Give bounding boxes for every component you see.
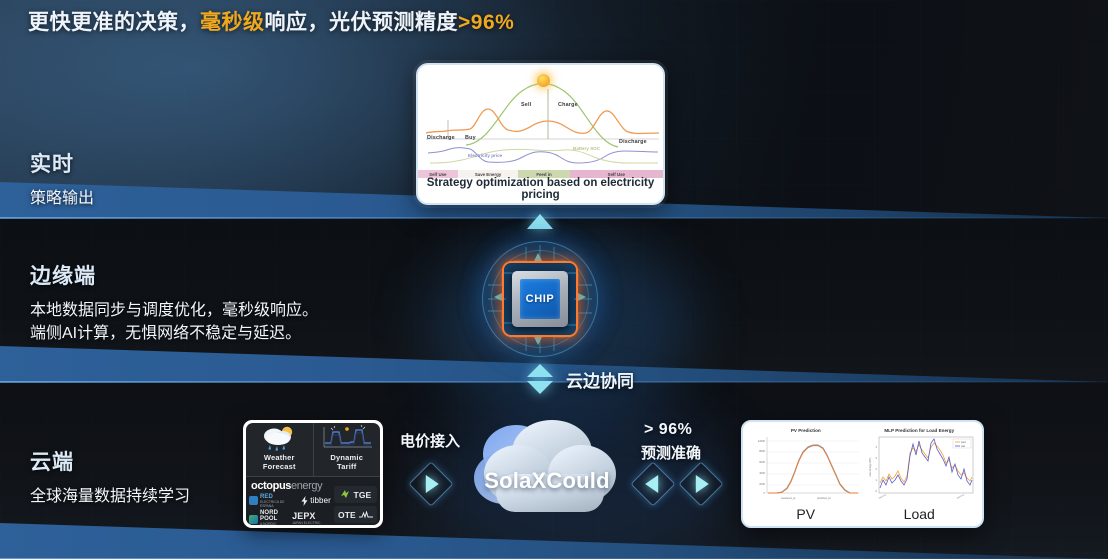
page-headline: 更快更准的决策，毫秒级响应，光伏预测精度>96% [28, 6, 514, 36]
pv-prediction-panel: PV Prediction 020004000 6000800012000 [749, 427, 863, 524]
dynamic-tariff-cell: Dynamic Tariff [313, 423, 381, 476]
logo-nordpool-text: NORD POOL [260, 510, 279, 522]
logo-ote-text: OTE [338, 510, 356, 520]
accuracy-value: > 96% [644, 421, 692, 439]
svg-text:6000: 6000 [759, 460, 765, 464]
load-panel-name: Load [863, 507, 977, 524]
ote-wave-icon [359, 511, 373, 519]
arrow-up-icon [527, 364, 553, 377]
layer-label-edge: 边缘端 本地数据同步与调度优化，毫秒级响应。 端侧AI计算，无惧网络不稳定与延迟… [30, 260, 318, 345]
svg-text:4: 4 [875, 445, 877, 449]
svg-text:measured_pv: measured_pv [781, 497, 796, 500]
svg-text:2: 2 [875, 467, 877, 471]
logo-row-2: RED ELECTRICA DE ESPANA tibber [249, 494, 331, 508]
svg-text:3: 3 [875, 456, 877, 460]
logo-column-left: octopusenergy RED ELECTRICA DE ESPANA [249, 480, 334, 525]
arrow-right-icon-inbound [412, 465, 450, 503]
weather-forecast-cell: Weather Forecast [246, 423, 313, 476]
chip-label: CHIP [526, 293, 555, 305]
sun-icon [537, 74, 550, 87]
logo-row-3: NORD POOL A NORDIC COMPANY JEPX JAPAN EL… [249, 510, 331, 525]
logo-nord-pool: NORD POOL A NORDIC COMPANY [249, 510, 279, 525]
chip-package: CHIP [512, 271, 568, 327]
svg-text:real: real [961, 445, 965, 448]
strategy-chart-plot: Discharge Buy Sell Charge Discharge Elec… [418, 65, 663, 178]
headline-part1: 更快更准的决策， [28, 11, 200, 34]
strategy-card-caption: Strategy optimization based on electrici… [418, 177, 663, 201]
sync-label: 云边协同 [566, 367, 634, 392]
headline-part2: 响应，光伏预测精度 [265, 11, 459, 34]
logo-tibber: tibber [301, 496, 331, 506]
load-prediction-svg: 012 34 Load Energy (Wh) pred real dateti… [865, 433, 977, 505]
logo-octopus-bold: octopus [251, 480, 291, 492]
layer-label-realtime: 实时 策略输出 [30, 148, 94, 210]
data-sources-top-row: Weather Forecast [246, 423, 380, 477]
svg-text:1: 1 [875, 478, 877, 482]
strategy-chart-card: Discharge Buy Sell Charge Discharge Elec… [416, 63, 665, 205]
load-ylabel: Load Energy (Wh) [869, 457, 872, 477]
accuracy-label: 预测准确 [641, 442, 701, 463]
weather-caption-line2: Forecast [263, 462, 296, 471]
pv-prediction-svg: 020004000 6000800012000 measured_pvpredi… [751, 433, 863, 505]
logo-nordpool-sub: A NORDIC COMPANY [260, 522, 279, 525]
series-label-electricity-price: Electricity price [468, 153, 502, 158]
load-prediction-plot: MLP Prediction for Load Energy 012 34 Lo… [863, 427, 977, 507]
logo-octopus-energy: octopusenergy [249, 480, 331, 492]
chart-annotation-charge: Charge [558, 102, 578, 108]
chart-annotation-sell: Sell [521, 102, 531, 108]
series-label-battery-soc: Battery SOC [573, 146, 600, 151]
tariff-chart-icon [318, 423, 376, 453]
red-electrica-mark [249, 496, 258, 505]
svg-text:pred: pred [961, 441, 966, 444]
svg-text:0: 0 [764, 491, 766, 495]
svg-text:0: 0 [875, 489, 877, 493]
chart-annotation-discharge-right: Discharge [619, 139, 647, 145]
logo-jepx-sub: JAPAN ELECTRIC POWER EXCHANGE [292, 521, 331, 525]
prediction-chart-card: PV Prediction 020004000 6000800012000 [741, 420, 984, 528]
logo-red-electrica: RED ELECTRICA DE ESPANA [249, 494, 290, 508]
svg-text:datetime: datetime [878, 493, 888, 500]
layer-subtitle-edge: 本地数据同步与调度优化，毫秒级响应。 端侧AI计算，无惧网络不稳定与延迟。 [30, 299, 318, 345]
layer-title-edge: 边缘端 [30, 260, 318, 290]
tariff-caption-line2: Tariff [330, 462, 363, 471]
arrow-up-icon [527, 214, 553, 229]
cloud-brand-label: SolaXCould [466, 468, 628, 494]
load-prediction-panel: MLP Prediction for Load Energy 012 34 Lo… [863, 427, 977, 524]
logo-jepx-text: JEPX [292, 511, 331, 521]
svg-text:4000: 4000 [759, 471, 765, 475]
dynamic-tariff-caption: Dynamic Tariff [330, 453, 363, 472]
data-sources-card: Weather Forecast [243, 420, 383, 528]
headline-accent: >96% [458, 11, 514, 34]
data-sources-logo-grid: octopusenergy RED ELECTRICA DE ESPANA [246, 477, 380, 525]
edge-desc-line-2: 端侧AI计算，无惧网络不稳定与延迟。 [30, 322, 318, 345]
logo-red-sub: ELECTRICA DE ESPANA [260, 500, 290, 508]
tariff-caption-line1: Dynamic [330, 453, 363, 462]
infographic-stage: 更快更准的决策，毫秒级响应，光伏预测精度>96% 实时 策略输出 边缘端 本地数… [0, 0, 1108, 559]
layer-subtitle-cloud: 全球海量数据持续学习 [30, 485, 190, 508]
edge-desc-line-1: 本地数据同步与调度优化，毫秒级响应。 [30, 299, 318, 322]
layer-label-cloud: 云端 全球海量数据持续学习 [30, 446, 190, 508]
logo-column-right: TGE OTE [334, 480, 377, 525]
data-sources-inner: Weather Forecast [246, 423, 380, 525]
tge-mark-icon [340, 489, 351, 500]
edge-chip-module: CHIP [482, 241, 598, 357]
arrow-down-icon [527, 381, 553, 394]
layer-title-realtime: 实时 [30, 148, 94, 178]
logo-tge: TGE [334, 486, 377, 503]
cloud-rain-sun-icon [258, 424, 300, 452]
chart-annotation-discharge-left: Discharge [427, 135, 455, 141]
logo-ote: OTE [334, 506, 377, 523]
chip-die: CHIP [520, 279, 560, 319]
logo-octopus-light: energy [291, 480, 322, 492]
weather-forecast-caption: Weather Forecast [263, 453, 296, 472]
logo-jepx: JEPX JAPAN ELECTRIC POWER EXCHANGE [292, 511, 331, 525]
pv-panel-name: PV [749, 507, 863, 524]
svg-text:datetime: datetime [956, 493, 966, 500]
solax-cloud-graphic: SolaXCould [466, 416, 628, 528]
layer-title-cloud: 云端 [30, 446, 190, 476]
svg-text:predicted_pv: predicted_pv [817, 497, 831, 500]
svg-text:2000: 2000 [759, 482, 765, 486]
chart-annotation-buy: Buy [465, 135, 476, 141]
price-feed-label: 电价接入 [400, 430, 460, 451]
svg-text:8000: 8000 [759, 449, 765, 453]
arrow-right-icon [682, 465, 720, 503]
arrow-left-icon [634, 465, 672, 503]
headline-highlight: 毫秒级 [200, 11, 265, 34]
bolt-icon [301, 496, 308, 506]
nord-pool-mark [249, 515, 258, 524]
weather-caption-line1: Weather [263, 453, 296, 462]
layer-subtitle-realtime: 策略输出 [30, 187, 94, 210]
svg-text:12000: 12000 [758, 439, 766, 443]
cloud-edge-sync-arrows [527, 364, 553, 394]
logo-tge-text: TGE [354, 490, 372, 500]
pv-prediction-plot: PV Prediction 020004000 6000800012000 [749, 427, 863, 507]
logo-tibber-text: tibber [310, 496, 331, 505]
